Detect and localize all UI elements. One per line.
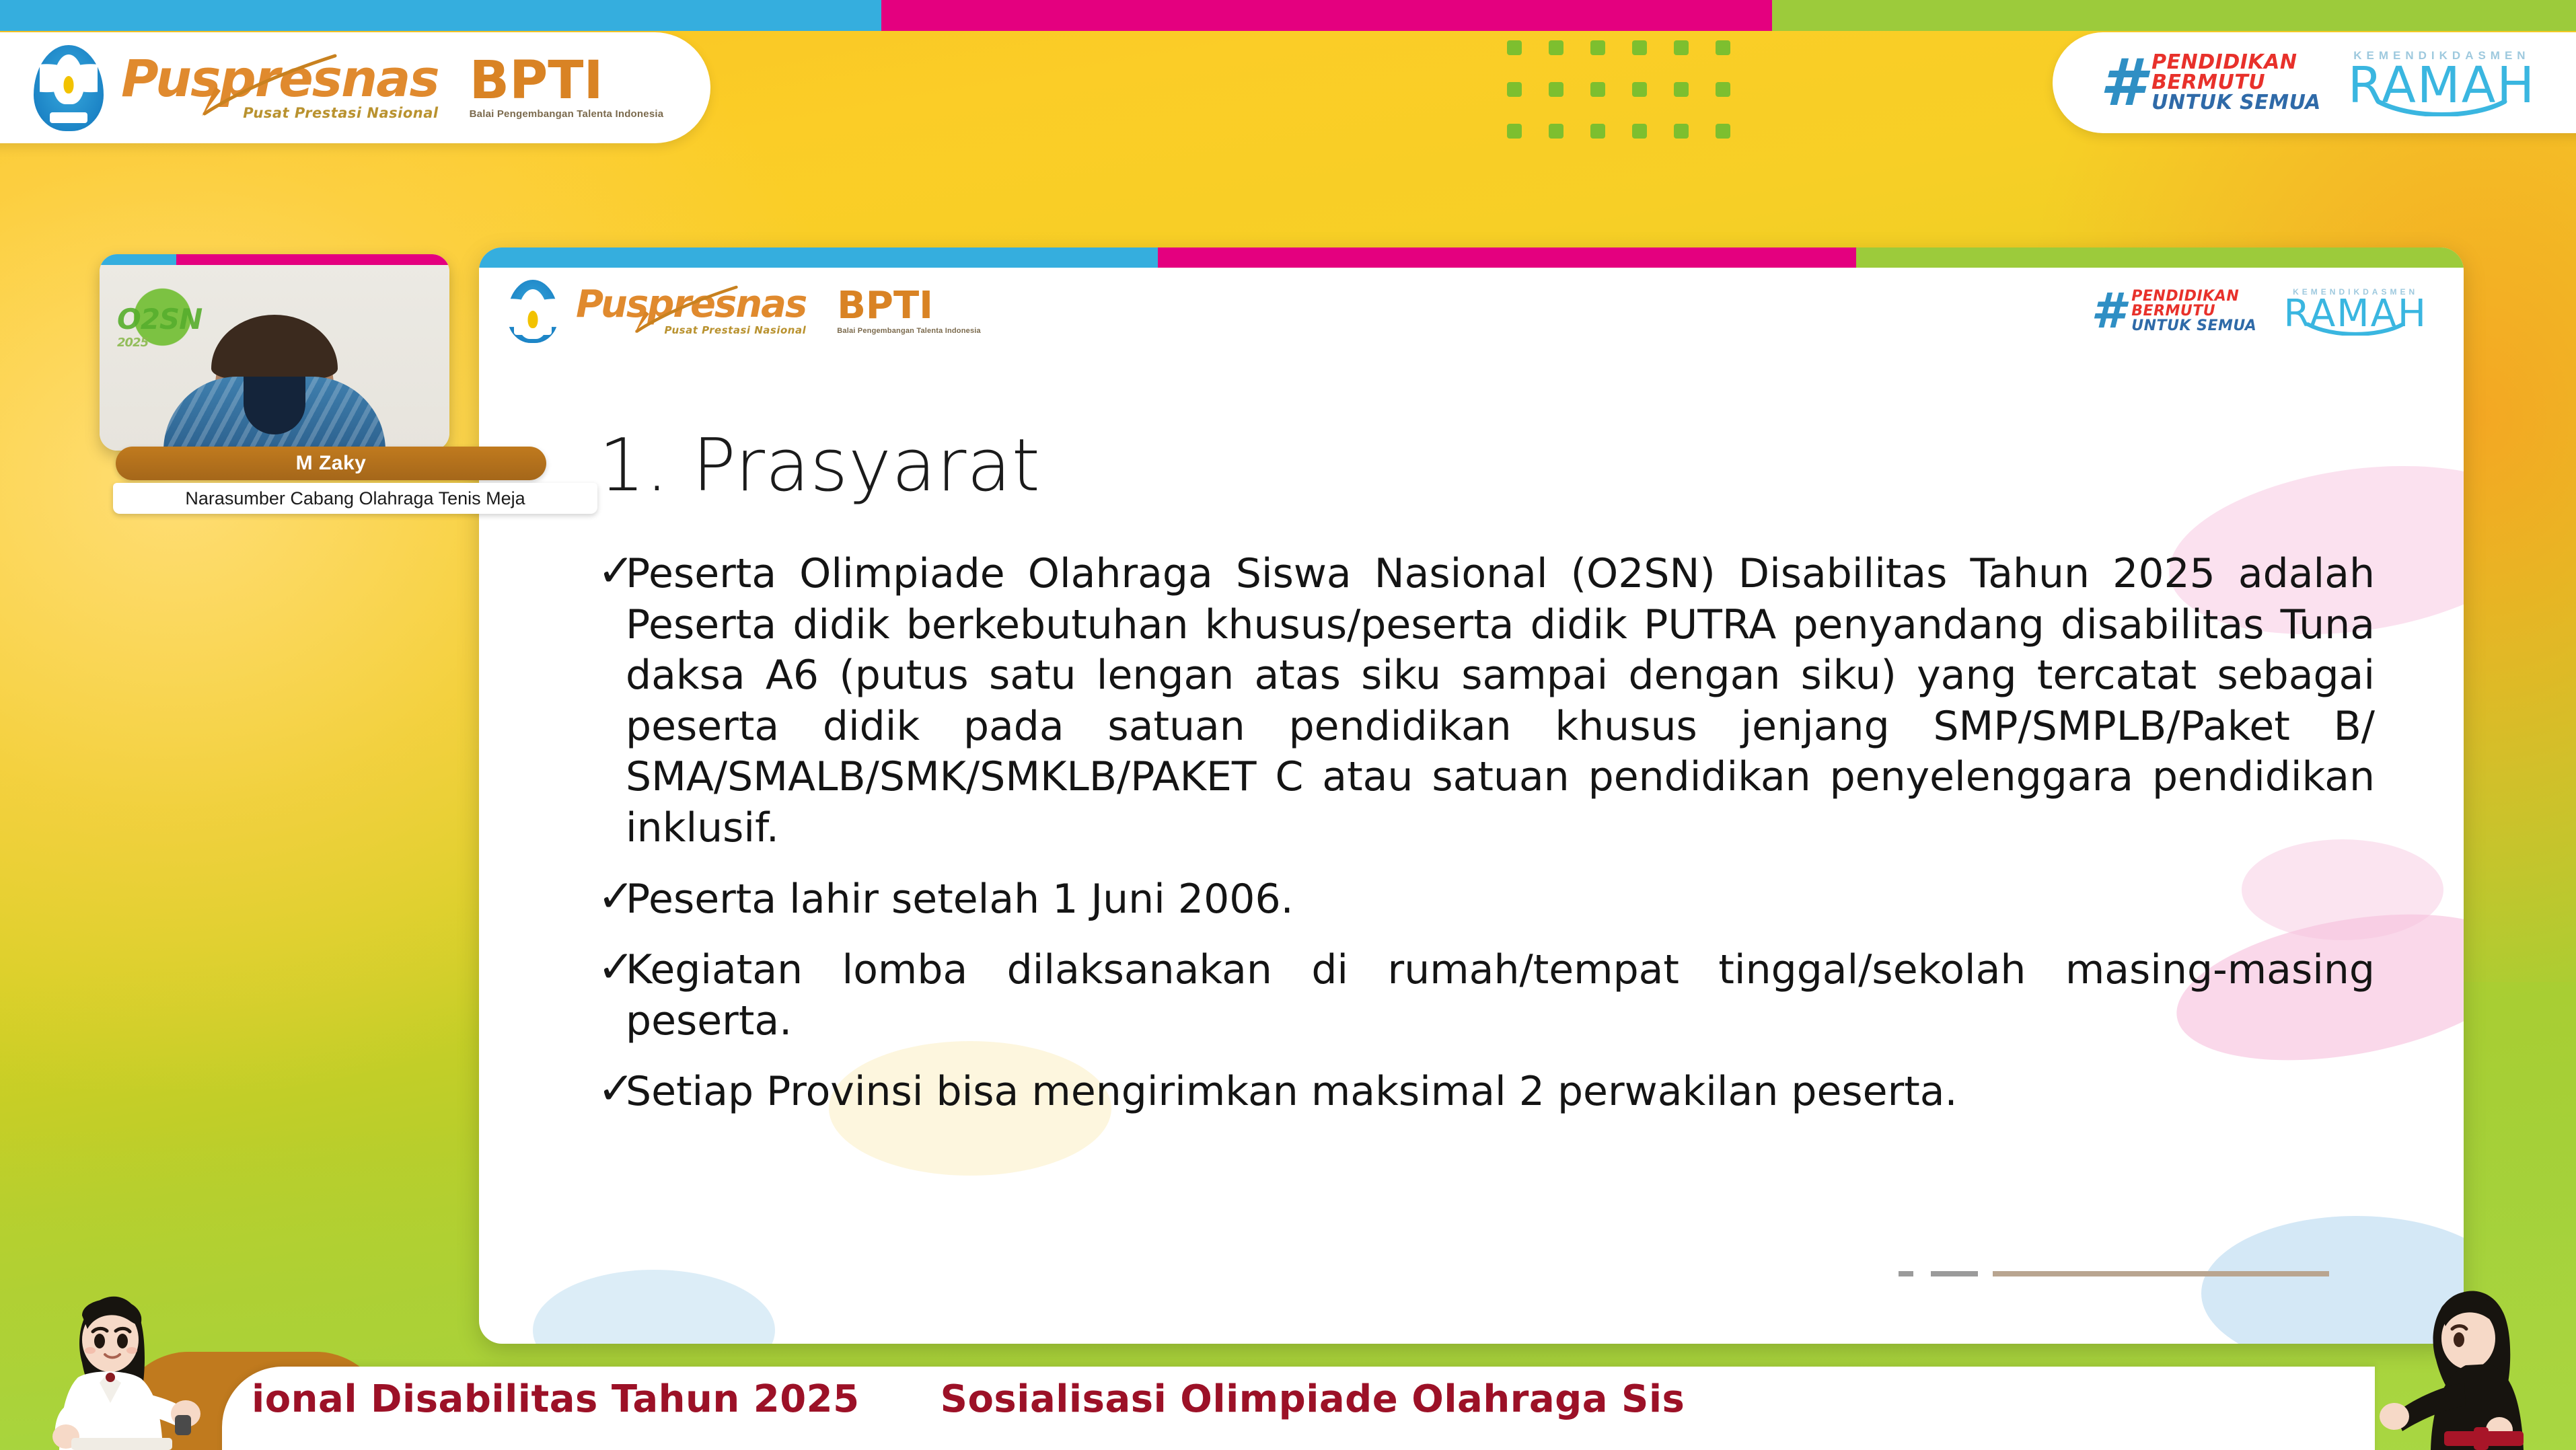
video-o2sn-watermark-year: 2025 xyxy=(117,336,202,350)
slide-pendidikan-bermutu-logo: # PENDIDIKAN BERMUTU UNTUK SEMUA xyxy=(2091,289,2256,334)
puspresnas-wordmark: Puspresnas Pusat Prestasi Nasional xyxy=(121,54,439,120)
ticker-item-2: Sosialisasi Olimpiade Olahraga Sis xyxy=(941,1377,1685,1421)
ramah-smile-icon xyxy=(2374,99,2509,116)
green-dot-grid-decoration xyxy=(1507,40,1776,168)
slide-puspresnas-sub-text: Pusat Prestasi Nasional xyxy=(576,324,806,336)
pbm-line-2: BERMUTU xyxy=(2151,73,2321,93)
karate-girl-mascot xyxy=(40,1275,242,1450)
kemendikbud-garuda-emblem-icon xyxy=(34,45,104,131)
participant-video-frame[interactable]: O2SN 2025 xyxy=(100,254,449,451)
slide-bullet-text: Kegiatan lomba dilaksanakan di rumah/tem… xyxy=(626,945,2375,1046)
bpti-wordmark: BPTI Balai Pengembangan Talenta Indonesi… xyxy=(470,56,664,120)
checkmark-icon: ✓ xyxy=(597,874,626,919)
slide-header: Puspresnas Pusat Prestasi Nasional BPTI … xyxy=(479,268,2464,355)
slide-bpti-sub-text: Balai Pengembangan Talenta Indonesia xyxy=(837,327,981,335)
pencak-silat-girl-mascot xyxy=(2374,1275,2563,1450)
bottom-ticker: ional Disabilitas Tahun 2025 Sosialisasi… xyxy=(0,1349,2576,1450)
decorative-blob-blue-2 xyxy=(533,1270,775,1344)
slide-rail-green xyxy=(1856,247,2464,268)
header-logo-pill-left: Puspresnas Pusat Prestasi Nasional BPTI … xyxy=(0,32,710,143)
participant-video-tile[interactable]: O2SN 2025 M Zaky Narasumber Cabang Olahr… xyxy=(100,254,449,456)
bpti-main-text: BPTI xyxy=(470,56,664,106)
checkmark-icon: ✓ xyxy=(597,549,626,593)
video-o2sn-watermark: O2SN 2025 xyxy=(117,303,202,350)
slide-title: 1. Prasyarat xyxy=(599,424,1040,508)
slide-bpti-wordmark: BPTI Balai Pengembangan Talenta Indonesi… xyxy=(837,288,981,334)
slide-decorative-underline xyxy=(1899,1271,2329,1276)
slide-bullet-item: ✓ Peserta lahir setelah 1 Juni 2006. xyxy=(597,874,2375,925)
slide-pbm-line-1: PENDIDIKAN xyxy=(2131,289,2256,304)
slide-puspresnas-main-text: Puspresnas xyxy=(576,287,806,322)
slide-ramah-smile-icon xyxy=(2305,322,2406,336)
participant-name-plate: M Zaky Narasumber Cabang Olahraga Tenis … xyxy=(113,447,557,514)
pbm-line-1: PENDIDIKAN xyxy=(2151,52,2321,73)
slide-bpti-main-text: BPTI xyxy=(837,288,981,323)
broadcast-stage: Puspresnas Pusat Prestasi Nasional BPTI … xyxy=(0,0,2576,1450)
ramah-logo: KEMENDIKDASMEN RAMAH xyxy=(2348,49,2536,116)
slide-pbm-line-2: BERMUTU xyxy=(2131,304,2256,319)
rail-segment-blue xyxy=(0,0,881,31)
slide-bullet-item: ✓ Kegiatan lomba dilaksanakan di rumah/t… xyxy=(597,945,2375,1046)
bpti-sub-text: Balai Pengembangan Talenta Indonesia xyxy=(470,108,664,120)
video-color-rail xyxy=(100,254,449,265)
header-logo-pill-right: # PENDIDIKAN BERMUTU UNTUK SEMUA KEMENDI… xyxy=(2053,32,2576,133)
hashtag-icon: # xyxy=(2100,57,2145,109)
slide-hashtag-icon: # xyxy=(2091,292,2125,331)
slide-bullet-text: Setiap Provinsi bisa mengirimkan maksima… xyxy=(626,1067,2375,1118)
participant-role: Narasumber Cabang Olahraga Tenis Meja xyxy=(113,483,597,514)
slide-color-rail xyxy=(479,247,2464,268)
slide-rail-magenta xyxy=(1158,247,1856,268)
pbm-line-3: UNTUK SEMUA xyxy=(2151,93,2321,113)
slide-kemendikbud-garuda-emblem-icon xyxy=(507,280,558,343)
participant-name: M Zaky xyxy=(116,447,546,480)
ticker-bar: ional Disabilitas Tahun 2025 Sosialisasi… xyxy=(222,1367,2375,1450)
slide-rail-blue xyxy=(479,247,1158,268)
slide-bullet-text: Peserta Olimpiade Olahraga Siswa Nasiona… xyxy=(626,549,2375,854)
rail-segment-magenta xyxy=(881,0,1773,31)
puspresnas-sub-text: Pusat Prestasi Nasional xyxy=(121,105,439,121)
slide-ramah-logo: KEMENDIKDASMEN RAMAH xyxy=(2283,287,2427,336)
slide-bullet-item: ✓ Setiap Provinsi bisa mengirimkan maksi… xyxy=(597,1067,2375,1118)
slide-bullet-text: Peserta lahir setelah 1 Juni 2006. xyxy=(626,874,2375,925)
pendidikan-bermutu-logo: # PENDIDIKAN BERMUTU UNTUK SEMUA xyxy=(2100,52,2320,113)
slide-puspresnas-wordmark: Puspresnas Pusat Prestasi Nasional xyxy=(576,287,806,336)
ticker-item-1: ional Disabilitas Tahun 2025 xyxy=(252,1377,860,1421)
checkmark-icon: ✓ xyxy=(597,1067,626,1111)
slide-pbm-line-3: UNTUK SEMUA xyxy=(2131,319,2256,334)
puspresnas-main-text: Puspresnas xyxy=(121,54,439,103)
presentation-slide[interactable]: Puspresnas Pusat Prestasi Nasional BPTI … xyxy=(479,247,2464,1344)
checkmark-icon: ✓ xyxy=(597,945,626,989)
top-color-rail xyxy=(0,0,2576,31)
slide-bullet-item: ✓ Peserta Olimpiade Olahraga Siswa Nasio… xyxy=(597,549,2375,854)
slide-bullet-list: ✓ Peserta Olimpiade Olahraga Siswa Nasio… xyxy=(597,549,2375,1138)
rail-segment-green xyxy=(1772,0,2576,31)
